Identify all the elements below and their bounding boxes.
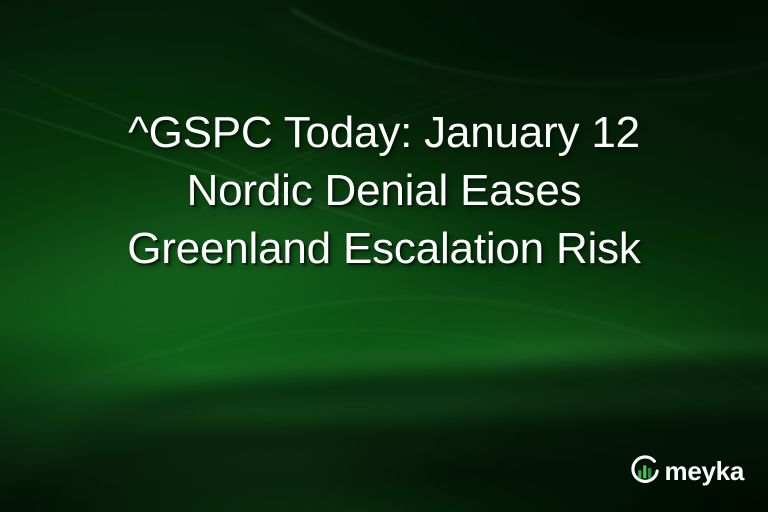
headline-line-2: Nordic Denial Eases — [28, 162, 740, 220]
chart-bars-circle-icon — [628, 454, 662, 488]
arc-streak-top — [163, 0, 768, 115]
brand-name: meyka — [665, 458, 744, 484]
brand-logo[interactable]: meyka — [628, 454, 744, 488]
wave-band-2 — [0, 380, 768, 512]
promo-card: ^GSPC Today: January 12 Nordic Denial Ea… — [0, 0, 768, 512]
headline: ^GSPC Today: January 12 Nordic Denial Ea… — [0, 104, 768, 278]
headline-line-1: ^GSPC Today: January 12 — [28, 104, 740, 162]
headline-line-3: Greenland Escalation Risk — [28, 220, 740, 278]
glow-wedge-bottom-left — [0, 289, 660, 512]
